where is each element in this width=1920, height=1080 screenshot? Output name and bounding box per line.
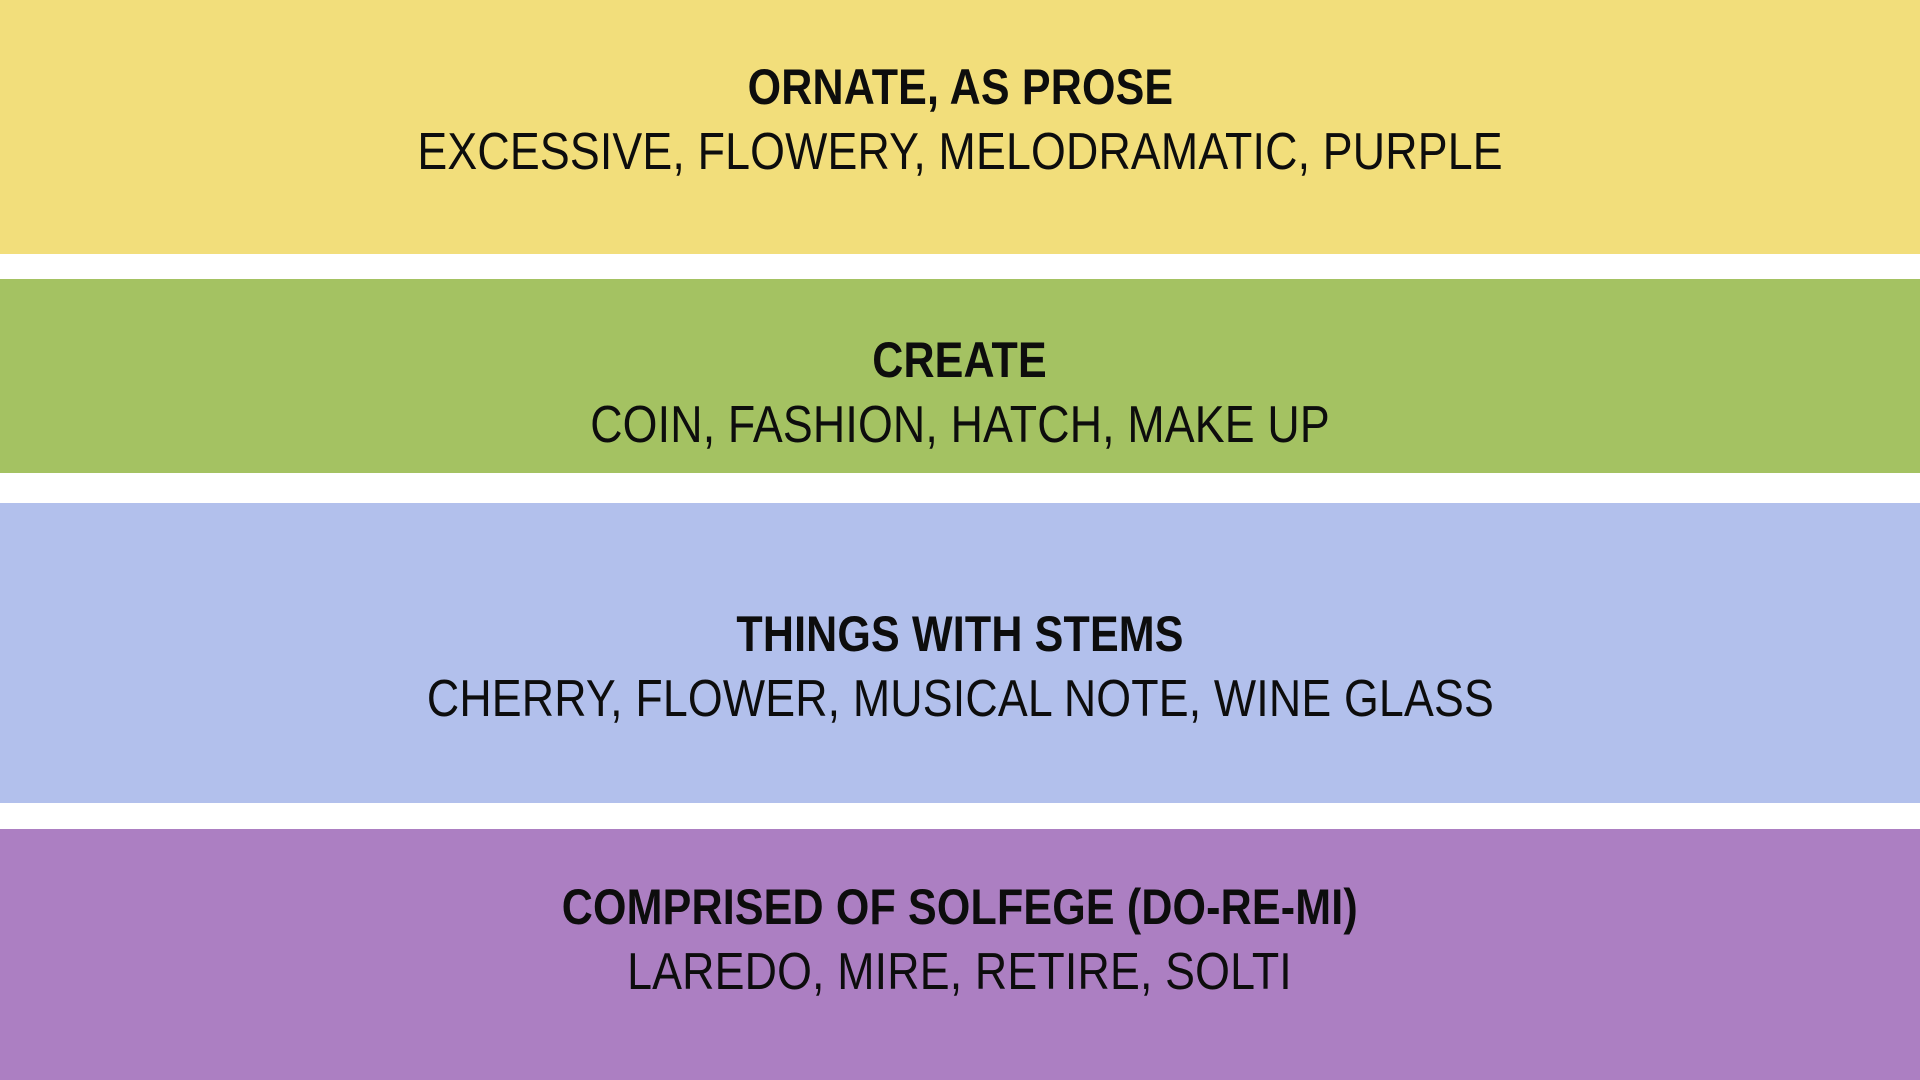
- category-text-stack: THINGS WITH STEMS CHERRY, FLOWER, MUSICA…: [340, 607, 1581, 727]
- category-text-stack: COMPRISED OF SOLFEGE (DO-RE-MI) LAREDO, …: [497, 880, 1423, 1000]
- category-title: CREATE: [873, 333, 1048, 387]
- category-members: COIN, FASHION, HATCH, MAKE UP: [590, 397, 1330, 453]
- category-band-yellow: ORNATE, AS PROSE EXCESSIVE, FLOWERY, MEL…: [0, 0, 1920, 254]
- category-band-green: CREATE COIN, FASHION, HATCH, MAKE UP: [0, 279, 1920, 473]
- category-text-stack: ORNATE, AS PROSE EXCESSIVE, FLOWERY, MEL…: [329, 60, 1591, 180]
- category-band-blue: THINGS WITH STEMS CHERRY, FLOWER, MUSICA…: [0, 503, 1920, 803]
- category-text-stack: CREATE COIN, FASHION, HATCH, MAKE UP: [530, 333, 1390, 453]
- category-members: CHERRY, FLOWER, MUSICAL NOTE, WINE GLASS: [426, 671, 1493, 727]
- puzzle-board: ORNATE, AS PROSE EXCESSIVE, FLOWERY, MEL…: [0, 0, 1920, 1080]
- category-band-purple: COMPRISED OF SOLFEGE (DO-RE-MI) LAREDO, …: [0, 829, 1920, 1080]
- category-members: LAREDO, MIRE, RETIRE, SOLTI: [628, 944, 1293, 1000]
- category-title: THINGS WITH STEMS: [736, 607, 1183, 661]
- category-members: EXCESSIVE, FLOWERY, MELODRAMATIC, PURPLE: [417, 124, 1502, 180]
- category-title: COMPRISED OF SOLFEGE (DO-RE-MI): [562, 880, 1358, 934]
- category-title: ORNATE, AS PROSE: [747, 60, 1173, 114]
